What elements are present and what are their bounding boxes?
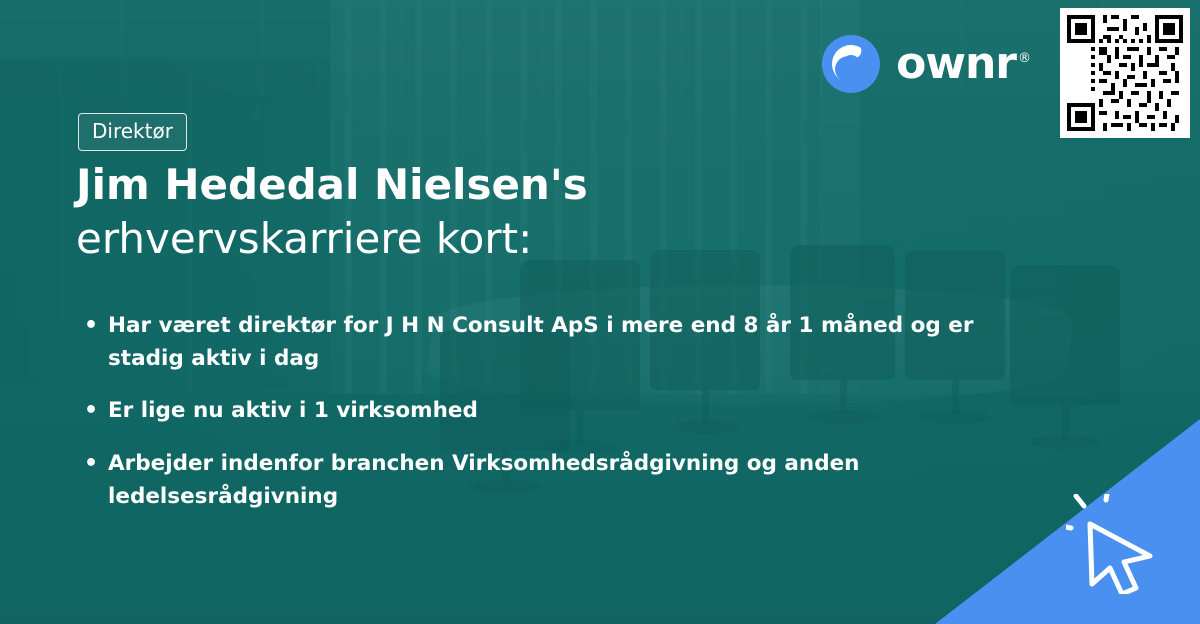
qr-code[interactable] bbox=[1060, 8, 1190, 138]
brand-wordmark: ownr® bbox=[896, 42, 1030, 86]
list-item: Er lige nu aktiv i 1 virksomhed bbox=[84, 395, 984, 428]
list-item: Har været direktør for J H N Consult ApS… bbox=[84, 310, 984, 375]
page-title: Jim Hededal Nielsen's erhvervskarriere k… bbox=[76, 158, 856, 266]
role-badge: Direktør bbox=[78, 113, 187, 151]
brand-logo: ownr® bbox=[820, 33, 1030, 95]
ownr-circle-logo-icon bbox=[820, 33, 882, 95]
career-bullet-list: Har været direktør for J H N Consult ApS… bbox=[84, 310, 984, 533]
click-cursor-icon bbox=[1066, 494, 1176, 598]
headline-line1: Jim Hededal Nielsen's bbox=[76, 158, 856, 212]
career-card: ownr® bbox=[0, 0, 1200, 624]
registered-mark: ® bbox=[1018, 51, 1030, 66]
list-item: Arbejder indenfor branchen Virksomhedsrå… bbox=[84, 448, 984, 513]
headline-line2: erhvervskarriere kort: bbox=[76, 212, 856, 266]
